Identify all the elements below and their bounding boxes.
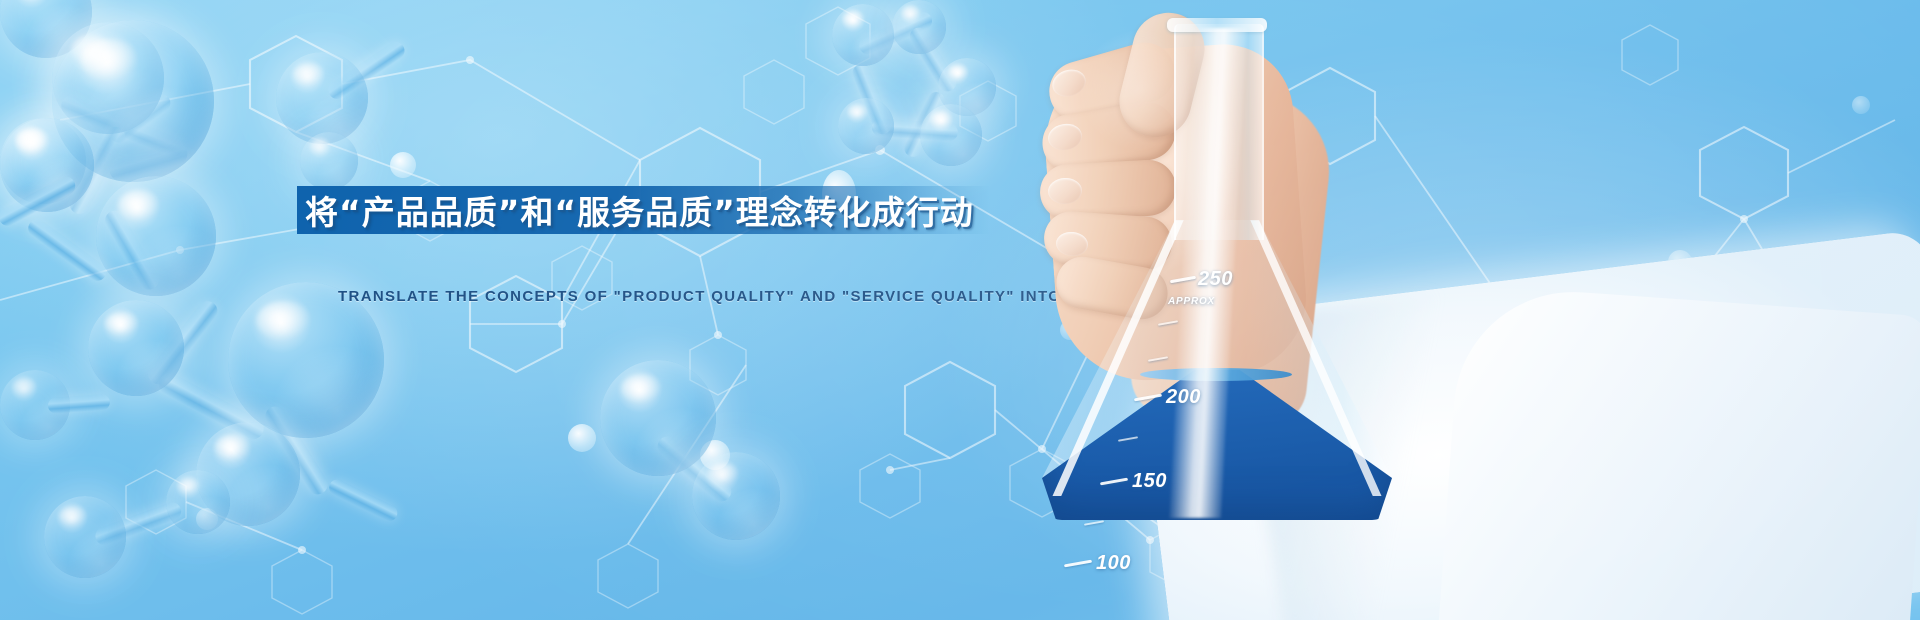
molecule-atom — [692, 452, 780, 540]
molecule-atom — [96, 176, 216, 296]
graduation-approx-note: APPROX — [1168, 296, 1215, 307]
molecule-atom — [838, 98, 894, 154]
bokeh-dot — [568, 424, 596, 452]
bokeh-dot — [390, 152, 416, 178]
graduation-label-250: 250 — [1198, 268, 1233, 291]
graduation-label-150: 150 — [1132, 470, 1167, 493]
molecule-atom — [276, 52, 368, 144]
molecule-atom — [600, 360, 716, 476]
hero-banner: 将“产品品质”和“服务品质”理念转化成行动 TRANSLATE THE CONC… — [0, 0, 1920, 620]
scientist-photo: 250 APPROX 200 150 100 — [930, 0, 1920, 620]
molecule-atom — [832, 4, 894, 66]
molecule-atom — [166, 470, 230, 534]
graduation-label-200: 200 — [1166, 386, 1201, 409]
specular-glow — [1080, 30, 1200, 150]
molecule-atom — [44, 496, 126, 578]
molecule-atom — [300, 132, 358, 190]
graduation-tick-minor — [1084, 520, 1104, 525]
graduation-label-100: 100 — [1096, 552, 1131, 575]
graduation-tick — [1064, 560, 1092, 568]
molecule-atom — [88, 300, 184, 396]
molecule-atom — [228, 282, 384, 438]
